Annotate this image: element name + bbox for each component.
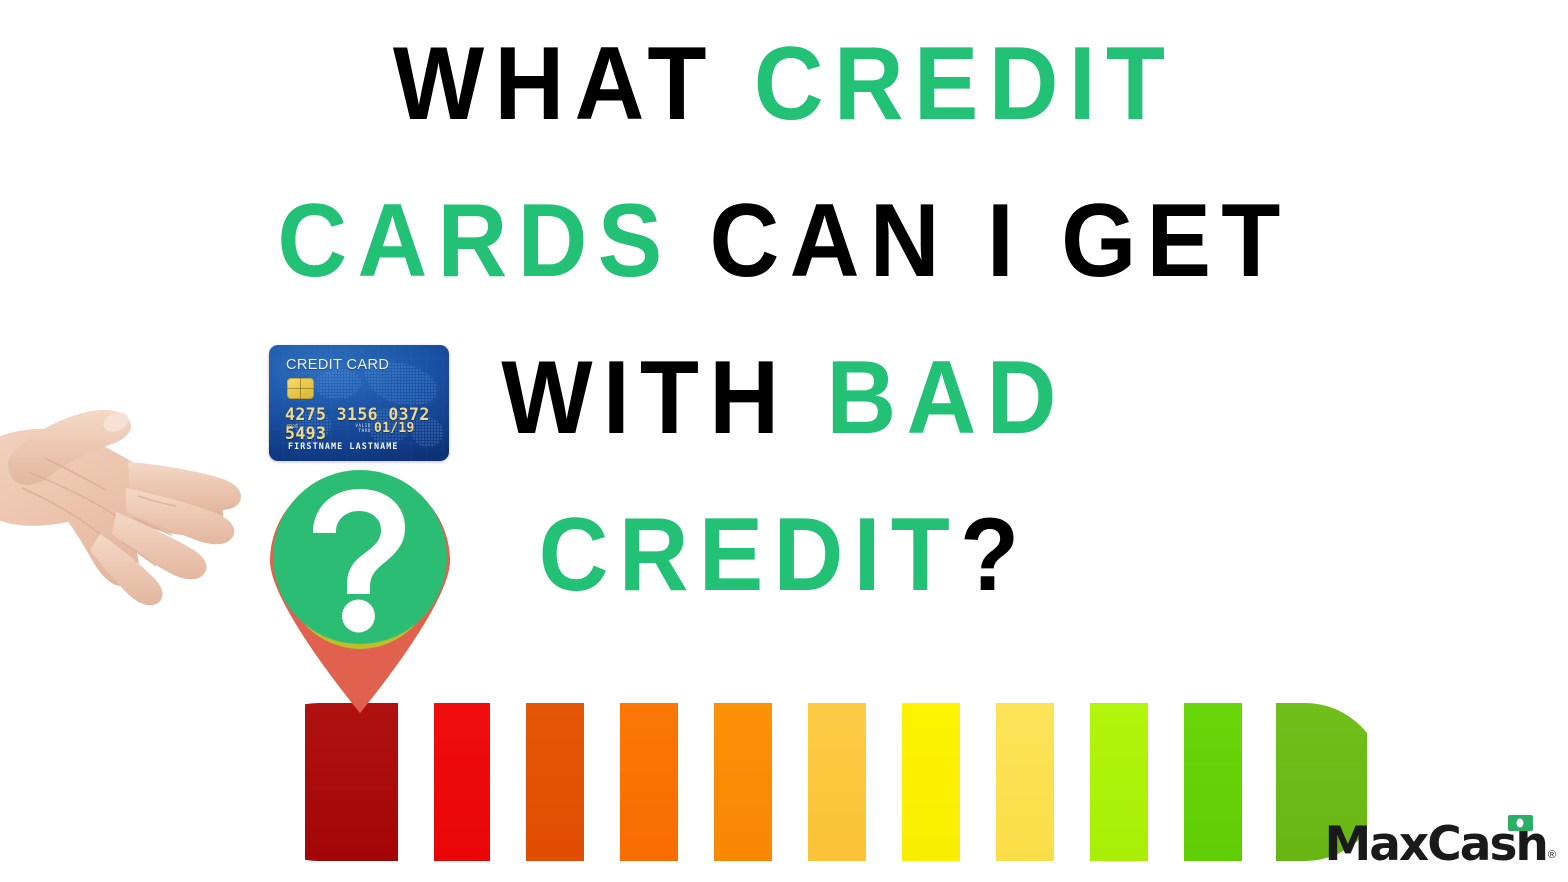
card-expiry-text: 01/19 — [374, 421, 415, 436]
question-mark-pin-icon — [262, 465, 458, 715]
headline-segment: WITH — [501, 340, 826, 456]
dollar-bill-icon — [1508, 815, 1533, 831]
credit-score-gauge — [305, 703, 1367, 861]
headline-segment: CAN I GET — [710, 183, 1291, 299]
headline-segment: CREDIT — [754, 26, 1175, 142]
headline-segment: CREDIT — [539, 497, 960, 613]
card-chip-icon — [287, 378, 314, 399]
headline-segment: WHAT — [393, 26, 754, 142]
logo-wordmark: MaxCash — [1324, 820, 1546, 870]
registered-trademark-mark: ® — [1548, 850, 1556, 861]
gauge-bar — [808, 703, 866, 861]
card-small-number-text: 4926 — [286, 424, 298, 430]
gauge-bar — [902, 703, 960, 861]
credit-card-graphic: CREDIT CARD 4275 3156 0372 5493 4926 VAL… — [269, 345, 449, 461]
gauge-bar — [434, 703, 490, 861]
card-brand-label: CREDIT CARD — [286, 357, 389, 373]
headline-line-1: WHAT CREDIT — [55, 6, 1513, 163]
open-hand-image — [0, 392, 256, 614]
gauge-bar — [996, 703, 1054, 861]
maxcash-logo: MaxCash ® — [1324, 820, 1556, 870]
headline-segment: CARDS — [277, 183, 709, 299]
gauge-bar — [620, 703, 678, 861]
gauge-bar — [1184, 703, 1242, 861]
gauge-bar — [305, 703, 398, 861]
headline-line-2: CARDS CAN I GET — [55, 163, 1513, 320]
card-holder-name-text: FIRSTNAME LASTNAME — [288, 441, 399, 451]
headline-segment: ? — [960, 497, 1029, 613]
thumbnail-canvas: CREDIT CARD 4275 3156 0372 5493 4926 VAL… — [0, 0, 1568, 882]
headline-segment: BAD — [826, 340, 1066, 456]
gauge-bar — [714, 703, 772, 861]
gauge-bar — [1090, 703, 1148, 861]
card-valid-thru-label: VALIDTHRU — [355, 424, 371, 433]
gauge-bar — [526, 703, 584, 861]
